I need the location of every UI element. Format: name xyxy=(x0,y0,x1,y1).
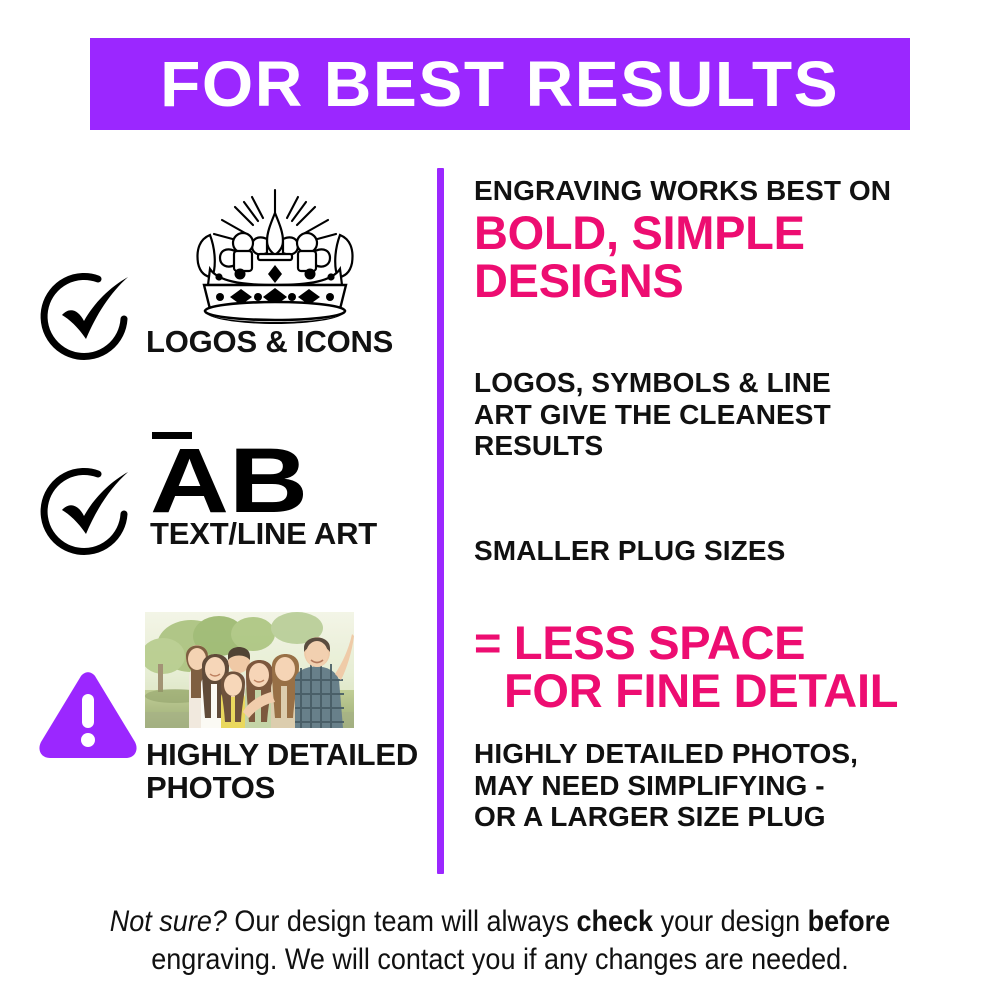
list-item-label: LOGOS & ICONS xyxy=(146,325,393,358)
list-item: LOGOS & ICONS xyxy=(0,185,430,375)
header-banner: FOR BEST RESULTS xyxy=(90,38,910,130)
footer-bold-check: check xyxy=(577,905,654,938)
right-block-emphasis: = LESS SPACE FOR FINE DETAIL xyxy=(474,571,974,763)
list-item: AB TEXT/LINE ART xyxy=(0,420,430,580)
right-block-engraving: ENGRAVING WORKS BEST ON BOLD, SIMPLE DES… xyxy=(474,175,974,305)
infographic-page: FOR BEST RESULTS xyxy=(0,0,1000,1000)
right-block-heading: ENGRAVING WORKS BEST ON xyxy=(474,175,974,207)
list-item-label: TEXT/LINE ART xyxy=(150,517,377,550)
right-block-heading: HIGHLY DETAILED PHOTOS, MAY NEED SIMPLIF… xyxy=(474,738,974,833)
vertical-divider xyxy=(437,168,444,874)
svg-text:AB: AB xyxy=(150,430,308,520)
emphasis-line-2: FOR FINE DETAIL xyxy=(474,667,974,715)
footer-text-1: Our design team will always xyxy=(227,905,577,938)
footer-italic-lead: Not sure? xyxy=(110,905,227,938)
ab-letters-icon: AB xyxy=(150,430,310,525)
group-selfie-photo xyxy=(145,612,354,728)
left-column: LOGOS & ICONS AB TEXT/LINE ART xyxy=(0,160,430,880)
footer-text-3: engraving. We will contact you if any ch… xyxy=(151,943,848,976)
emphasis-line-1: = LESS SPACE xyxy=(474,616,805,669)
footer-bold-before: before xyxy=(808,905,891,938)
list-item: HIGHLY DETAILED PHOTOS xyxy=(0,610,430,830)
right-block-heading: SMALLER PLUG SIZES xyxy=(474,535,974,567)
right-block-photos: HIGHLY DETAILED PHOTOS, MAY NEED SIMPLIF… xyxy=(474,738,974,833)
warning-triangle-icon xyxy=(36,668,140,769)
crown-icon xyxy=(140,185,410,330)
list-item-label: HIGHLY DETAILED PHOTOS xyxy=(146,738,418,805)
footer-note: Not sure? Our design team will always ch… xyxy=(95,903,905,980)
page-title: FOR BEST RESULTS xyxy=(160,52,839,116)
check-circle-icon xyxy=(36,458,140,567)
right-block-plug-sizes: SMALLER PLUG SIZES = LESS SPACE FOR FINE… xyxy=(474,535,974,762)
check-circle-icon xyxy=(36,263,140,372)
right-block-logos: LOGOS, SYMBOLS & LINE ART GIVE THE CLEAN… xyxy=(474,367,974,462)
right-block-heading: LOGOS, SYMBOLS & LINE ART GIVE THE CLEAN… xyxy=(474,367,974,462)
footer-text-2: your design xyxy=(653,905,808,938)
right-block-emphasis: BOLD, SIMPLE DESIGNS xyxy=(474,209,974,305)
